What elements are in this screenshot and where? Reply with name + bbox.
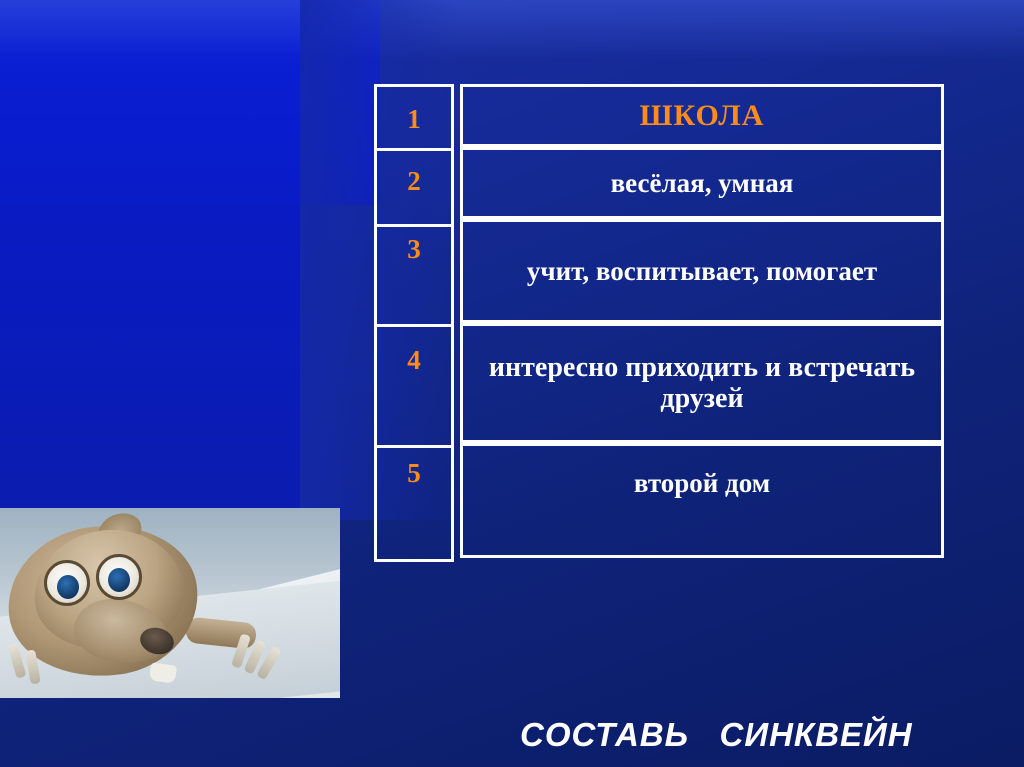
cinquain-line-3: учит, воспитывает, помогает bbox=[460, 219, 944, 323]
cinquain-line-4: интересно приходить и встречать друзей bbox=[460, 323, 944, 443]
row-number-2: 2 bbox=[377, 166, 451, 197]
number-separator-2 bbox=[377, 224, 451, 227]
number-separator-3 bbox=[377, 324, 451, 327]
squirrel-eye-left bbox=[44, 560, 90, 606]
cinquain-table: 1 2 3 4 5 ШКОЛА весёлая, умная учит, вос… bbox=[374, 84, 944, 562]
number-separator-4 bbox=[377, 445, 451, 448]
squirrel-pupil-left bbox=[57, 575, 79, 599]
squirrel-photo bbox=[0, 508, 340, 698]
slide: 1 2 3 4 5 ШКОЛА весёлая, умная учит, вос… bbox=[0, 0, 1024, 767]
number-separator-1 bbox=[377, 148, 451, 151]
slide-caption: СОСТАВЬ СИНКВЕЙН bbox=[520, 716, 913, 754]
background-bright-block bbox=[0, 0, 380, 205]
row-number-1: 1 bbox=[377, 104, 451, 135]
row-number-4: 4 bbox=[377, 345, 451, 376]
cinquain-line-2: весёлая, умная bbox=[460, 147, 944, 219]
number-column: 1 2 3 4 5 bbox=[374, 84, 454, 562]
row-number-5: 5 bbox=[377, 458, 451, 489]
cinquain-line-1: ШКОЛА bbox=[460, 84, 944, 147]
cinquain-line-5: второй дом bbox=[460, 443, 944, 558]
squirrel-pupil-right bbox=[108, 568, 130, 592]
row-number-3: 3 bbox=[377, 234, 451, 265]
squirrel-eye-right bbox=[96, 554, 142, 600]
